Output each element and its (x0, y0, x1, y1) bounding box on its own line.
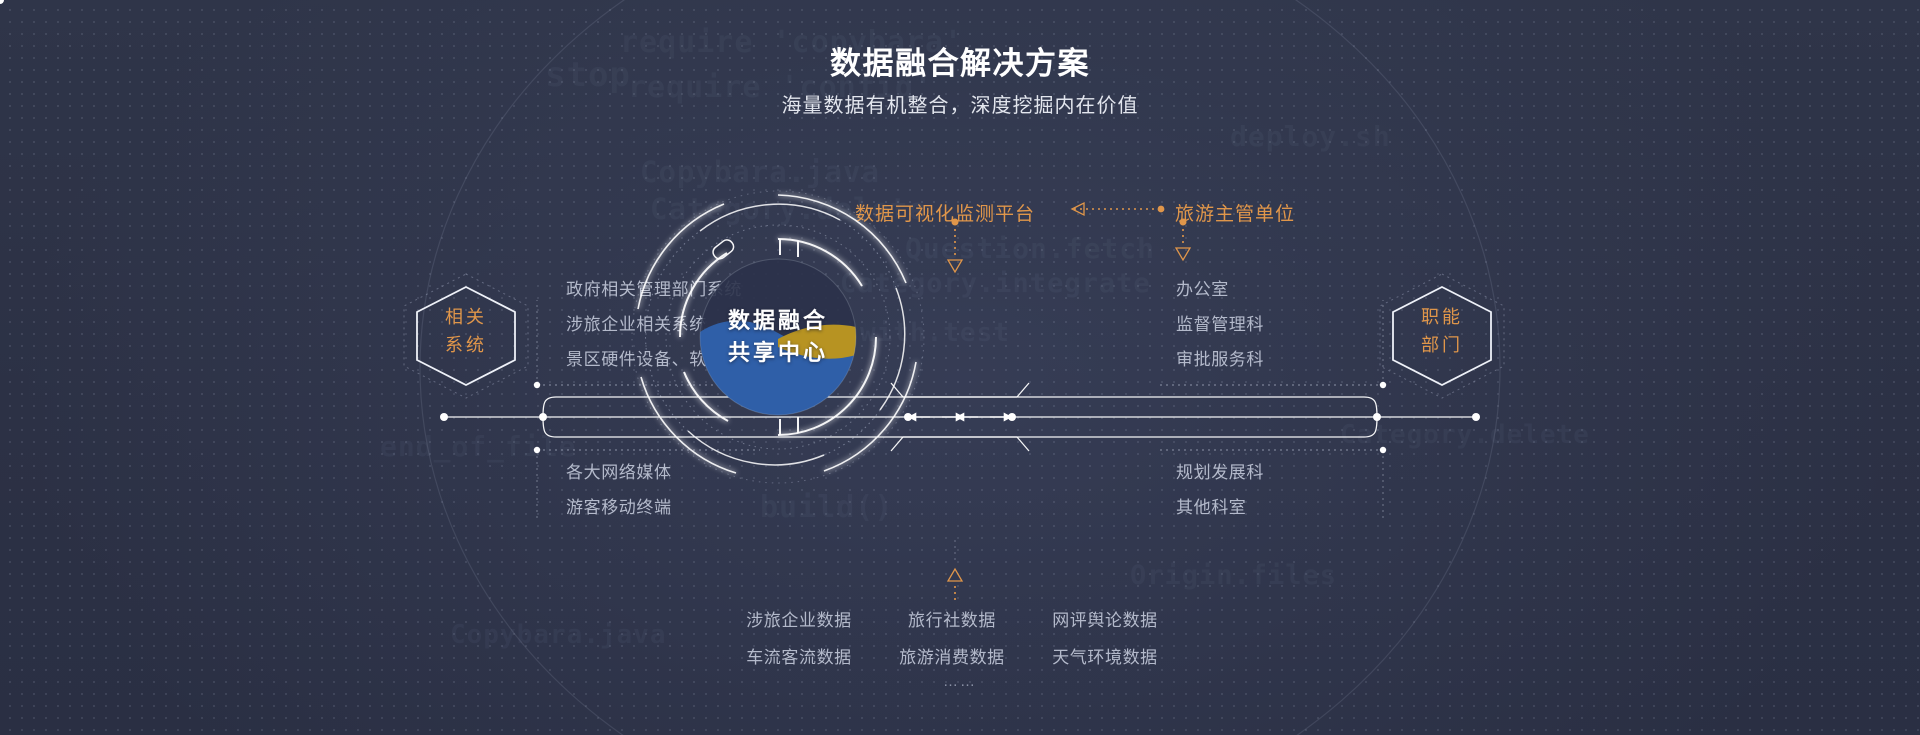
hexagon-outline-icon (1376, 271, 1508, 401)
right-bottom-department-list: 规划发展科 其他科室 (1176, 455, 1264, 525)
list-item: 审批服务科 (1176, 342, 1264, 377)
list-item: 办公室 (1176, 272, 1264, 307)
list-item: 其他科室 (1176, 490, 1264, 525)
code-snippet: Copybara.java (640, 155, 880, 189)
hexagon-outline-icon (400, 271, 532, 401)
hexagon-functional-departments[interactable]: 职能 部门 (1376, 271, 1508, 401)
list-item: 监督管理科 (1176, 307, 1264, 342)
code-snippet: deploy.sh (1230, 120, 1391, 153)
data-item: 天气环境数据 (1041, 639, 1169, 676)
bottom-data-sources: 涉旅企业数据 旅行社数据 网评舆论数据 车流客流数据 旅游消费数据 天气环境数据 (735, 602, 1185, 676)
data-item: 旅行社数据 (877, 602, 1027, 639)
list-item: 规划发展科 (1176, 455, 1264, 490)
dotted-arrow-left-icon (1055, 200, 1167, 218)
code-snippet: Origin.files (1130, 560, 1337, 591)
data-item: 网评舆论数据 (1041, 602, 1169, 639)
code-snippet: Question.fetch (905, 232, 1155, 265)
data-fusion-hub[interactable]: 数据融合 共享中心 (628, 187, 928, 487)
code-snippet: end_of_file (380, 430, 576, 463)
hexagon-related-systems[interactable]: 相关 系统 (400, 271, 532, 401)
page-subtitle: 海量数据有机整合，深度挖掘内在价值 (0, 89, 1920, 118)
data-items-ellipsis: …… (0, 673, 1920, 690)
data-item: 车流客流数据 (735, 639, 863, 676)
code-snippet: build() (760, 490, 893, 525)
data-item: 旅游消费数据 (877, 639, 1027, 676)
list-item: 游客移动终端 (566, 490, 672, 525)
label-tourism-authority[interactable]: 旅游主管单位 (1175, 199, 1295, 226)
page-title: 数据融合解决方案 (0, 38, 1920, 83)
code-snippet: Copybara.java (450, 620, 667, 650)
code-snippet: Category.delete (1340, 420, 1590, 450)
concentric-rings-icon (628, 187, 928, 487)
right-top-department-list: 办公室 监督管理科 审批服务科 (1176, 272, 1264, 377)
data-item: 涉旅企业数据 (735, 602, 863, 639)
infographic-canvas: require 'copybara' require 'config' Copy… (0, 0, 1920, 735)
